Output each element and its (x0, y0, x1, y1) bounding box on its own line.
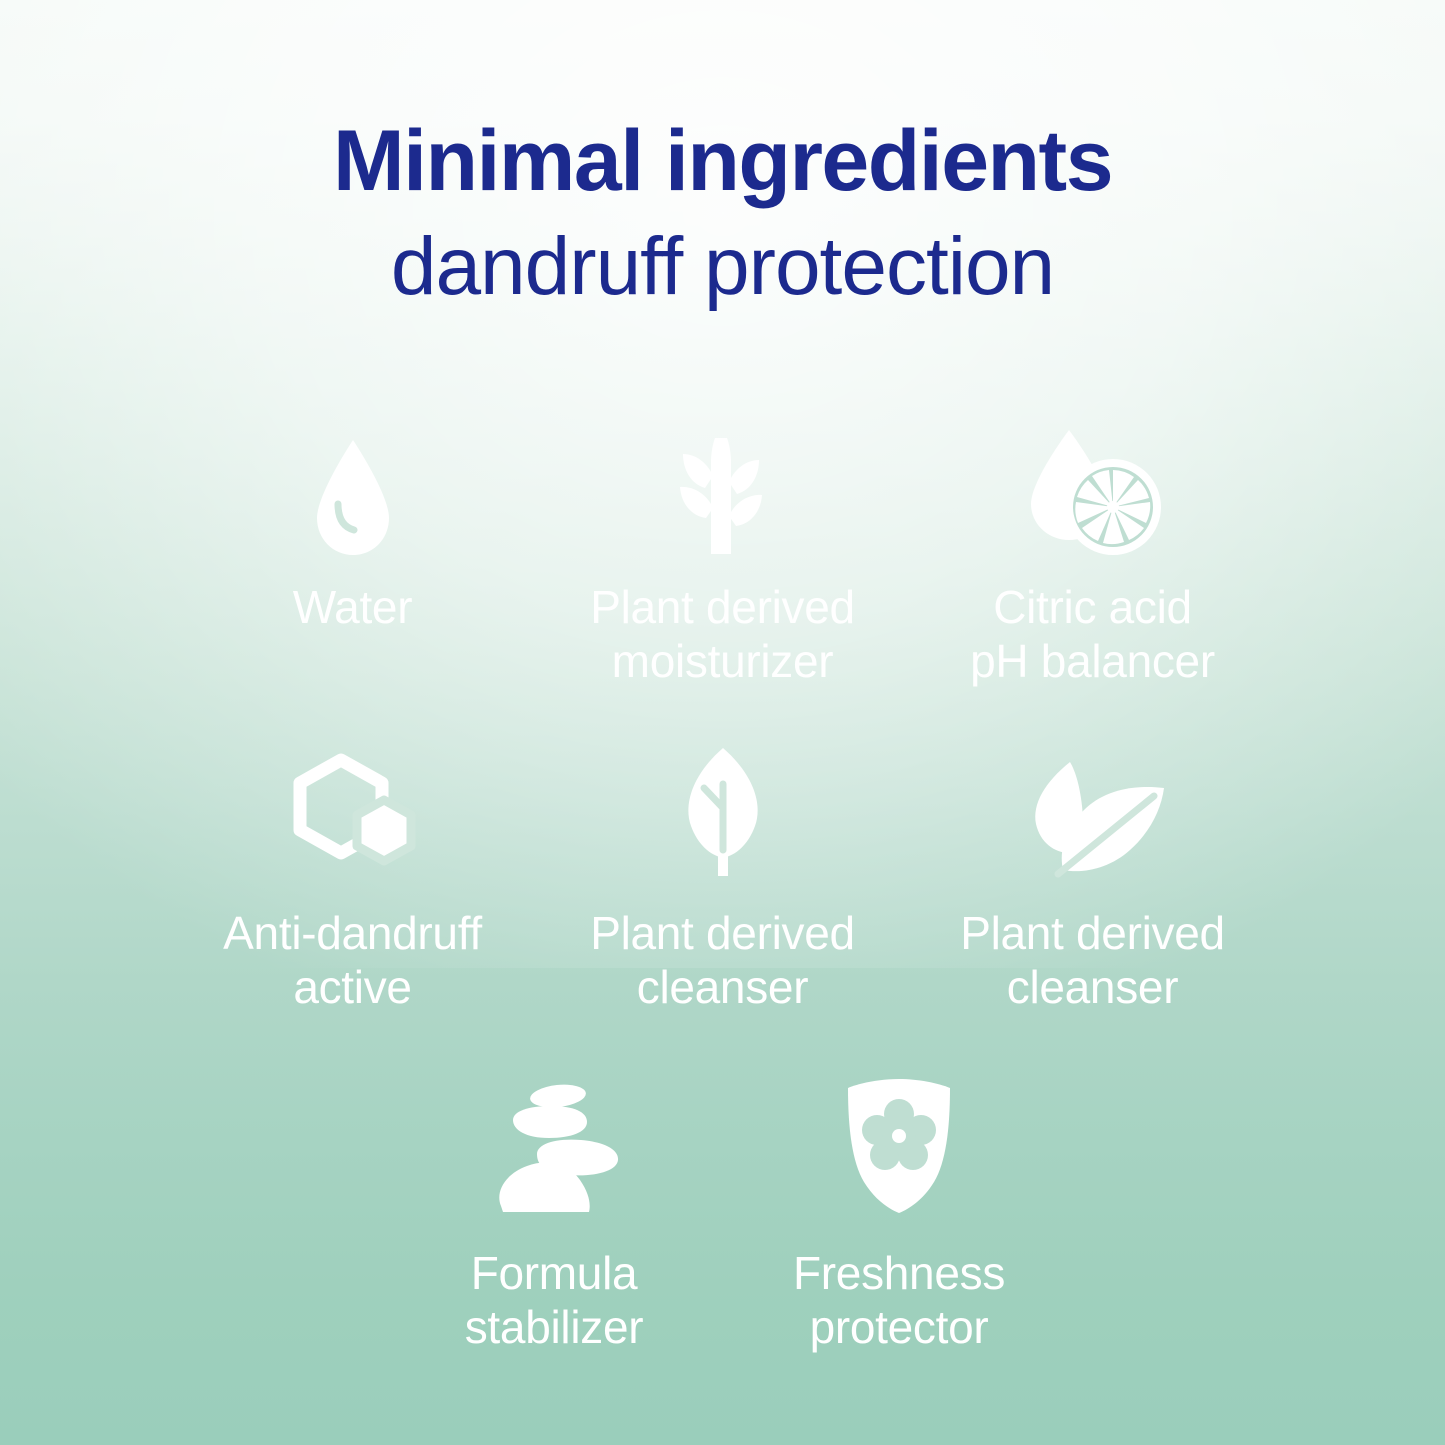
ingredient-row: Water Pl (0, 418, 1445, 689)
ingredient-item-water: Water (168, 418, 538, 634)
ingredient-label: Plant derived moisturizer (590, 580, 855, 689)
leaf-icon (675, 733, 771, 878)
ingredient-item-formula-stabilizer: Formula stabilizer (382, 1066, 727, 1355)
hexagon-molecule-icon (283, 733, 423, 878)
citrus-slice-drop-icon (1022, 418, 1164, 558)
ingredient-item-plant-cleanser-leaves: Plant derived cleanser (908, 733, 1278, 1015)
ingredient-label: Anti-dandruff active (223, 906, 482, 1015)
ingredient-label: Freshness protector (793, 1246, 1005, 1355)
two-leaves-icon (1018, 733, 1168, 878)
water-drop-icon (310, 418, 396, 558)
ingredient-item-anti-dandruff: Anti-dandruff active (168, 733, 538, 1015)
ingredients-infographic: Minimal ingredients dandruff protection … (0, 0, 1445, 1445)
ingredient-label: Citric acid pH balancer (970, 580, 1215, 689)
plant-stem-icon (667, 418, 779, 558)
ingredient-label: Plant derived cleanser (960, 906, 1225, 1015)
ingredient-item-freshness-protector: Freshness protector (727, 1066, 1072, 1355)
ingredient-item-plant-cleanser-leaf: Plant derived cleanser (538, 733, 908, 1015)
page-title: Minimal ingredients dandruff protection (0, 118, 1445, 308)
ingredient-item-plant-moisturizer: Plant derived moisturizer (538, 418, 908, 689)
ingredient-row: Formula stabilizer (0, 1066, 1445, 1355)
shield-flower-icon (842, 1066, 956, 1216)
ingredient-label: Water (293, 580, 412, 634)
page-title-line1: Minimal ingredients (0, 118, 1445, 204)
ingredient-row: Anti-dandruff active Plant derived clean… (0, 733, 1445, 1015)
ingredient-label: Formula stabilizer (465, 1246, 644, 1355)
ingredient-grid: Water Pl (0, 418, 1445, 1355)
stacked-stones-icon (479, 1066, 629, 1216)
page-title-line2: dandruff protection (0, 226, 1445, 308)
ingredient-item-citric-acid: Citric acid pH balancer (908, 418, 1278, 689)
ingredient-label: Plant derived cleanser (590, 906, 855, 1015)
